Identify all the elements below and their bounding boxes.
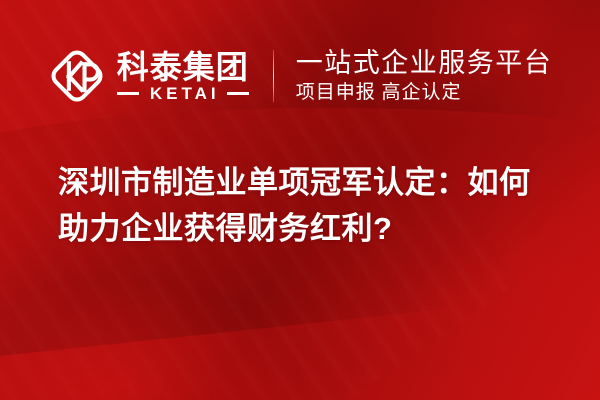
headline-line-1: 深圳市制造业单项冠军认定：如何: [58, 160, 568, 206]
brand-logo[interactable]: 科泰集团 KETAI: [48, 47, 249, 105]
logo-dash-right: [227, 92, 249, 95]
headline-line-2: 助力企业获得财务红利?: [58, 206, 568, 252]
promo-banner: 科泰集团 KETAI 一站式企业服务平台 项目申报 高企认定 深圳市制造业单项冠…: [0, 0, 600, 400]
headline-block: 深圳市制造业单项冠军认定：如何 助力企业获得财务红利?: [58, 160, 568, 252]
logo-wordmark: 科泰集团 KETAI: [117, 51, 249, 102]
tagline-secondary: 项目申报 高企认定: [296, 83, 553, 103]
header-divider: [273, 50, 274, 102]
logo-english-row: KETAI: [117, 85, 249, 102]
banner-header: 科泰集团 KETAI 一站式企业服务平台 项目申报 高企认定: [0, 36, 600, 116]
tagline-primary: 一站式企业服务平台: [296, 49, 553, 77]
logo-dash-left: [117, 92, 139, 95]
logo-company-name-cn: 科泰集团: [117, 51, 249, 83]
ketai-kp-diamond-logo-icon: [48, 47, 106, 105]
logo-company-name-en: KETAI: [146, 85, 220, 102]
brand-tagline: 一站式企业服务平台 项目申报 高企认定: [296, 49, 553, 102]
